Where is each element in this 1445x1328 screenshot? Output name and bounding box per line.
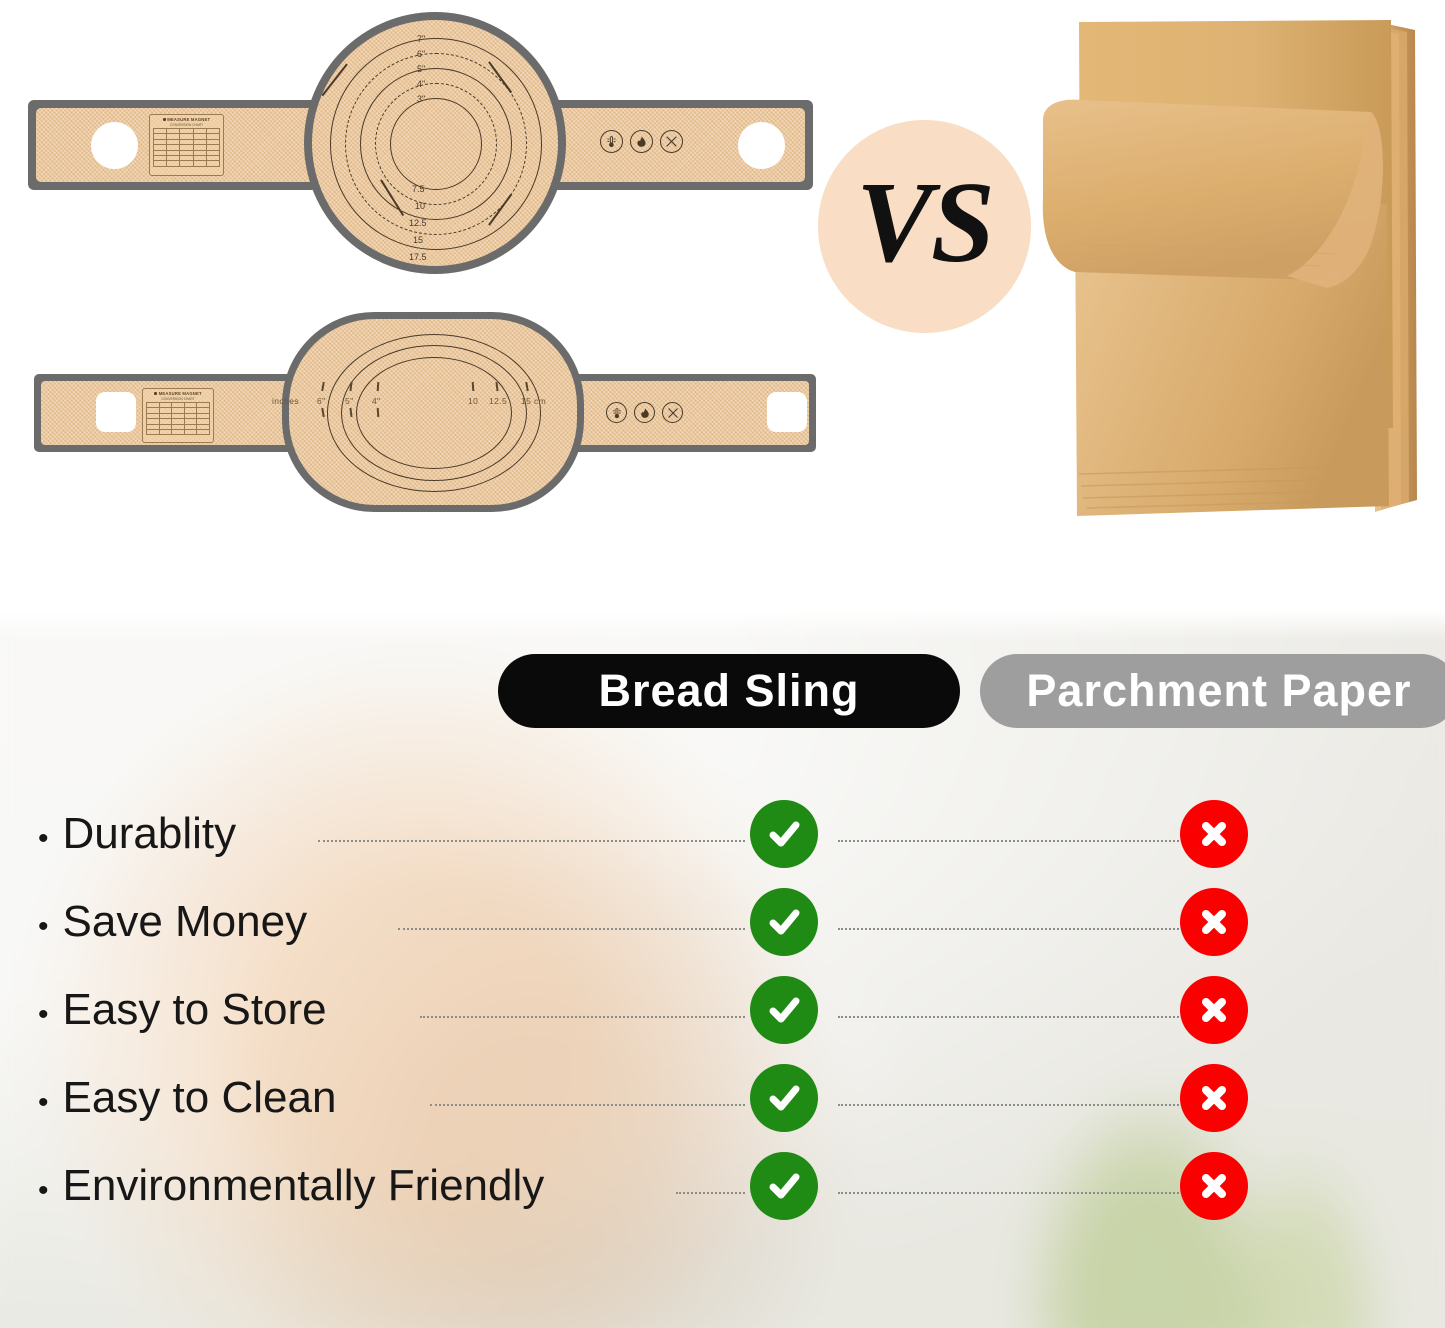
verdict-cross-parchment-paper bbox=[1180, 1064, 1248, 1132]
care-icon-group bbox=[600, 130, 683, 153]
dotted-connector-right bbox=[838, 1016, 1223, 1018]
verdict-cross-parchment-paper bbox=[1180, 1152, 1248, 1220]
feature-label: Easy to Clean bbox=[63, 1076, 337, 1120]
chart-subtitle: CONVERSION CHART bbox=[153, 123, 220, 127]
verdict-cross-parchment-paper bbox=[1180, 888, 1248, 956]
ruler-tick-cm-3: 15 bbox=[413, 235, 423, 245]
comparison-column-headers: Bread Sling Parchment Paper bbox=[0, 654, 1445, 734]
bullet-icon: • bbox=[38, 1176, 49, 1206]
dotted-connector-left bbox=[398, 928, 745, 930]
chart-table bbox=[153, 128, 220, 167]
cm-tick-1: 12.5 bbox=[489, 396, 507, 406]
dotted-connector-right bbox=[838, 840, 1223, 842]
verdict-check-bread-sling bbox=[750, 976, 818, 1044]
chart-subtitle: CONVERSION CHART bbox=[146, 397, 210, 401]
no-knife-icon bbox=[662, 402, 683, 423]
ruler-tick-inch-1: 6" bbox=[417, 49, 425, 59]
verdict-check-bread-sling bbox=[750, 1064, 818, 1132]
thermometer-icon bbox=[606, 402, 627, 423]
chart-title-text: MEASURE MAGNET bbox=[167, 117, 210, 122]
inch-unit-label: inches bbox=[272, 396, 299, 406]
bread-sling-mat-round: 7" 6" 5" 4" 3" 7.5 10 12.5 15 17.5 MEASU… bbox=[28, 12, 813, 274]
flame-icon bbox=[634, 402, 655, 423]
parchment-illustration bbox=[1035, 8, 1435, 528]
verdict-check-bread-sling bbox=[750, 888, 818, 956]
feature-row: • Environmentally Friendly bbox=[0, 1142, 1445, 1230]
feature-row: • Easy to Clean bbox=[0, 1054, 1445, 1142]
thermometer-icon bbox=[600, 130, 623, 153]
parchment-paper-stack bbox=[1035, 8, 1435, 528]
bullet-icon: • bbox=[38, 1000, 49, 1030]
bread-sling-mat-oval: inches 6" 5" 4" 10 12.5 15 cm MEASURE MA… bbox=[34, 312, 816, 512]
feature-label-group: • Environmentally Friendly bbox=[38, 1164, 544, 1208]
ruler-tick-inch-3: 4" bbox=[417, 79, 425, 89]
column-header-bread-sling-label: Bread Sling bbox=[598, 665, 859, 717]
mat-hanging-hole-right bbox=[767, 392, 807, 432]
ruler-tick-inch-0: 7" bbox=[417, 34, 425, 44]
dotted-connector-left bbox=[420, 1016, 745, 1018]
vs-label: VS bbox=[856, 165, 993, 280]
feature-label-group: • Easy to Clean bbox=[38, 1076, 336, 1120]
dotted-connector-right bbox=[838, 1192, 1223, 1194]
verdict-cross-parchment-paper bbox=[1180, 976, 1248, 1044]
vs-badge: VS bbox=[818, 120, 1031, 333]
feature-label-group: • Easy to Store bbox=[38, 988, 327, 1032]
dotted-connector-left bbox=[676, 1192, 745, 1194]
verdict-cross-parchment-paper bbox=[1180, 800, 1248, 868]
column-header-parchment-paper[interactable]: Parchment Paper bbox=[980, 654, 1445, 728]
column-header-parchment-paper-label: Parchment Paper bbox=[1026, 665, 1411, 717]
feature-label-group: • Durablity bbox=[38, 812, 236, 856]
ruler-tick-cm-4: 17.5 bbox=[409, 252, 427, 262]
ruler-tick-cm-1: 10 bbox=[415, 201, 425, 211]
ruler-tick-cm-2: 12.5 bbox=[409, 218, 427, 228]
oval-ring-inner bbox=[356, 357, 512, 469]
measure-magnet-chart: MEASURE MAGNET CONVERSION CHART bbox=[142, 388, 214, 443]
care-icon-group bbox=[606, 402, 683, 423]
dotted-connector-left bbox=[430, 1104, 745, 1106]
feature-comparison-rows: • Durablity • Save Money bbox=[0, 790, 1445, 1230]
flame-icon bbox=[630, 130, 653, 153]
dotted-connector-right bbox=[838, 1104, 1223, 1106]
ruler-tick-cm-0: 7.5 bbox=[412, 184, 425, 194]
cm-tick-0: 10 bbox=[468, 396, 478, 406]
verdict-check-bread-sling bbox=[750, 1152, 818, 1220]
column-header-bread-sling[interactable]: Bread Sling bbox=[498, 654, 960, 728]
mat-hanging-hole-left bbox=[91, 122, 138, 169]
dotted-connector-right bbox=[838, 928, 1223, 930]
bullet-icon: • bbox=[38, 824, 49, 854]
mat-hanging-hole-left bbox=[96, 392, 136, 432]
inch-tick-2: 4" bbox=[372, 396, 381, 406]
inch-tick-0: 6" bbox=[317, 396, 326, 406]
feature-row: • Durablity bbox=[0, 790, 1445, 878]
feature-label: Environmentally Friendly bbox=[63, 1164, 545, 1208]
panel-top-fade bbox=[0, 612, 1445, 640]
inch-tick-1: 5" bbox=[345, 396, 354, 406]
mat-hanging-hole-right bbox=[738, 122, 785, 169]
comparison-panel: Bread Sling Parchment Paper • Durablity bbox=[0, 612, 1445, 1328]
ruler-tick-inch-4: 3" bbox=[417, 94, 425, 104]
ruler-ring-inner bbox=[390, 98, 482, 190]
bullet-icon: • bbox=[38, 1088, 49, 1118]
cm-tick-2: 15 cm bbox=[521, 396, 546, 406]
feature-row: • Easy to Store bbox=[0, 966, 1445, 1054]
chart-table bbox=[146, 402, 210, 435]
dotted-connector-left bbox=[318, 840, 745, 842]
bullet-icon: • bbox=[38, 912, 49, 942]
no-knife-icon bbox=[660, 130, 683, 153]
product-comparison-infographic: 7" 6" 5" 4" 3" 7.5 10 12.5 15 17.5 MEASU… bbox=[0, 0, 1445, 1328]
measure-magnet-chart: MEASURE MAGNET CONVERSION CHART bbox=[149, 114, 224, 176]
feature-label-group: • Save Money bbox=[38, 900, 307, 944]
feature-label: Durablity bbox=[63, 812, 237, 856]
feature-row: • Save Money bbox=[0, 878, 1445, 966]
verdict-check-bread-sling bbox=[750, 800, 818, 868]
feature-label: Easy to Store bbox=[63, 988, 327, 1032]
feature-label: Save Money bbox=[63, 900, 308, 944]
ruler-tick-inch-2: 5" bbox=[417, 64, 425, 74]
chart-title-text: MEASURE MAGNET bbox=[159, 391, 202, 396]
hero-product-section: 7" 6" 5" 4" 3" 7.5 10 12.5 15 17.5 MEASU… bbox=[0, 0, 1445, 612]
